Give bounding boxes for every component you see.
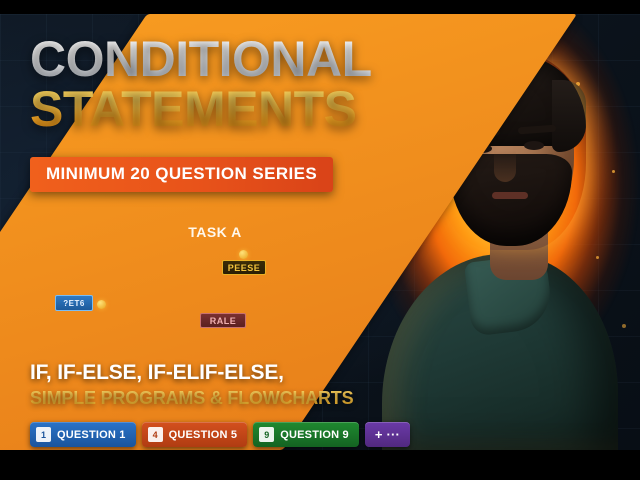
flow-junction-dot-zeto: [97, 300, 106, 309]
headline-block: CONDITIONAL STATEMENTS: [30, 36, 372, 133]
letterbox-bottom: [0, 450, 640, 480]
flow-chip-else: PEESE: [222, 260, 266, 275]
stage: CONDITIONAL STATEMENTS MINIMUM 20 QUESTI…: [0, 14, 640, 450]
flow-junction-dot-else: [239, 250, 248, 259]
question-badge-row: 1 QUESTION 1 4 QUESTION 5 9 QUESTION 9 +…: [30, 422, 410, 447]
presenter-mouth: [492, 192, 528, 199]
presenter-eye-right: [524, 141, 544, 150]
question-badge-more[interactable]: + ···: [365, 422, 410, 447]
subtitle-line-2: SIMPLE PROGRAMS & FLOWCHARTS: [30, 388, 353, 409]
headline-line-2: STATEMENTS: [30, 85, 372, 133]
plus-ellipsis-icon: + ···: [375, 427, 400, 442]
flow-chip-zeto: ?ET6: [55, 295, 93, 311]
subtitle-line-1: IF, IF-ELSE, IF-ELIF-ELSE,: [30, 361, 284, 385]
series-ribbon-label: MINIMUM 20 QUESTION SERIES: [46, 164, 317, 183]
badge-label: QUESTION 5: [169, 429, 238, 441]
badge-number-icon: 9: [259, 427, 274, 442]
series-ribbon: MINIMUM 20 QUESTION SERIES: [30, 157, 333, 192]
headline-line-1: CONDITIONAL: [30, 36, 372, 83]
badge-number-icon: 1: [36, 427, 51, 442]
presenter-nose: [494, 150, 516, 182]
question-badge-1[interactable]: 1 QUESTION 1: [30, 422, 136, 447]
thumbnail-canvas: CONDITIONAL STATEMENTS MINIMUM 20 QUESTI…: [0, 0, 640, 480]
question-badge-3[interactable]: 9 QUESTION 9: [253, 422, 359, 447]
question-badge-2[interactable]: 4 QUESTION 5: [142, 422, 248, 447]
letterbox-top: [0, 0, 640, 14]
badge-label: QUESTION 1: [57, 429, 126, 441]
badge-label: QUESTION 9: [280, 429, 349, 441]
flow-chip-rale: RALE: [200, 313, 246, 328]
badge-number-icon: 4: [148, 427, 163, 442]
